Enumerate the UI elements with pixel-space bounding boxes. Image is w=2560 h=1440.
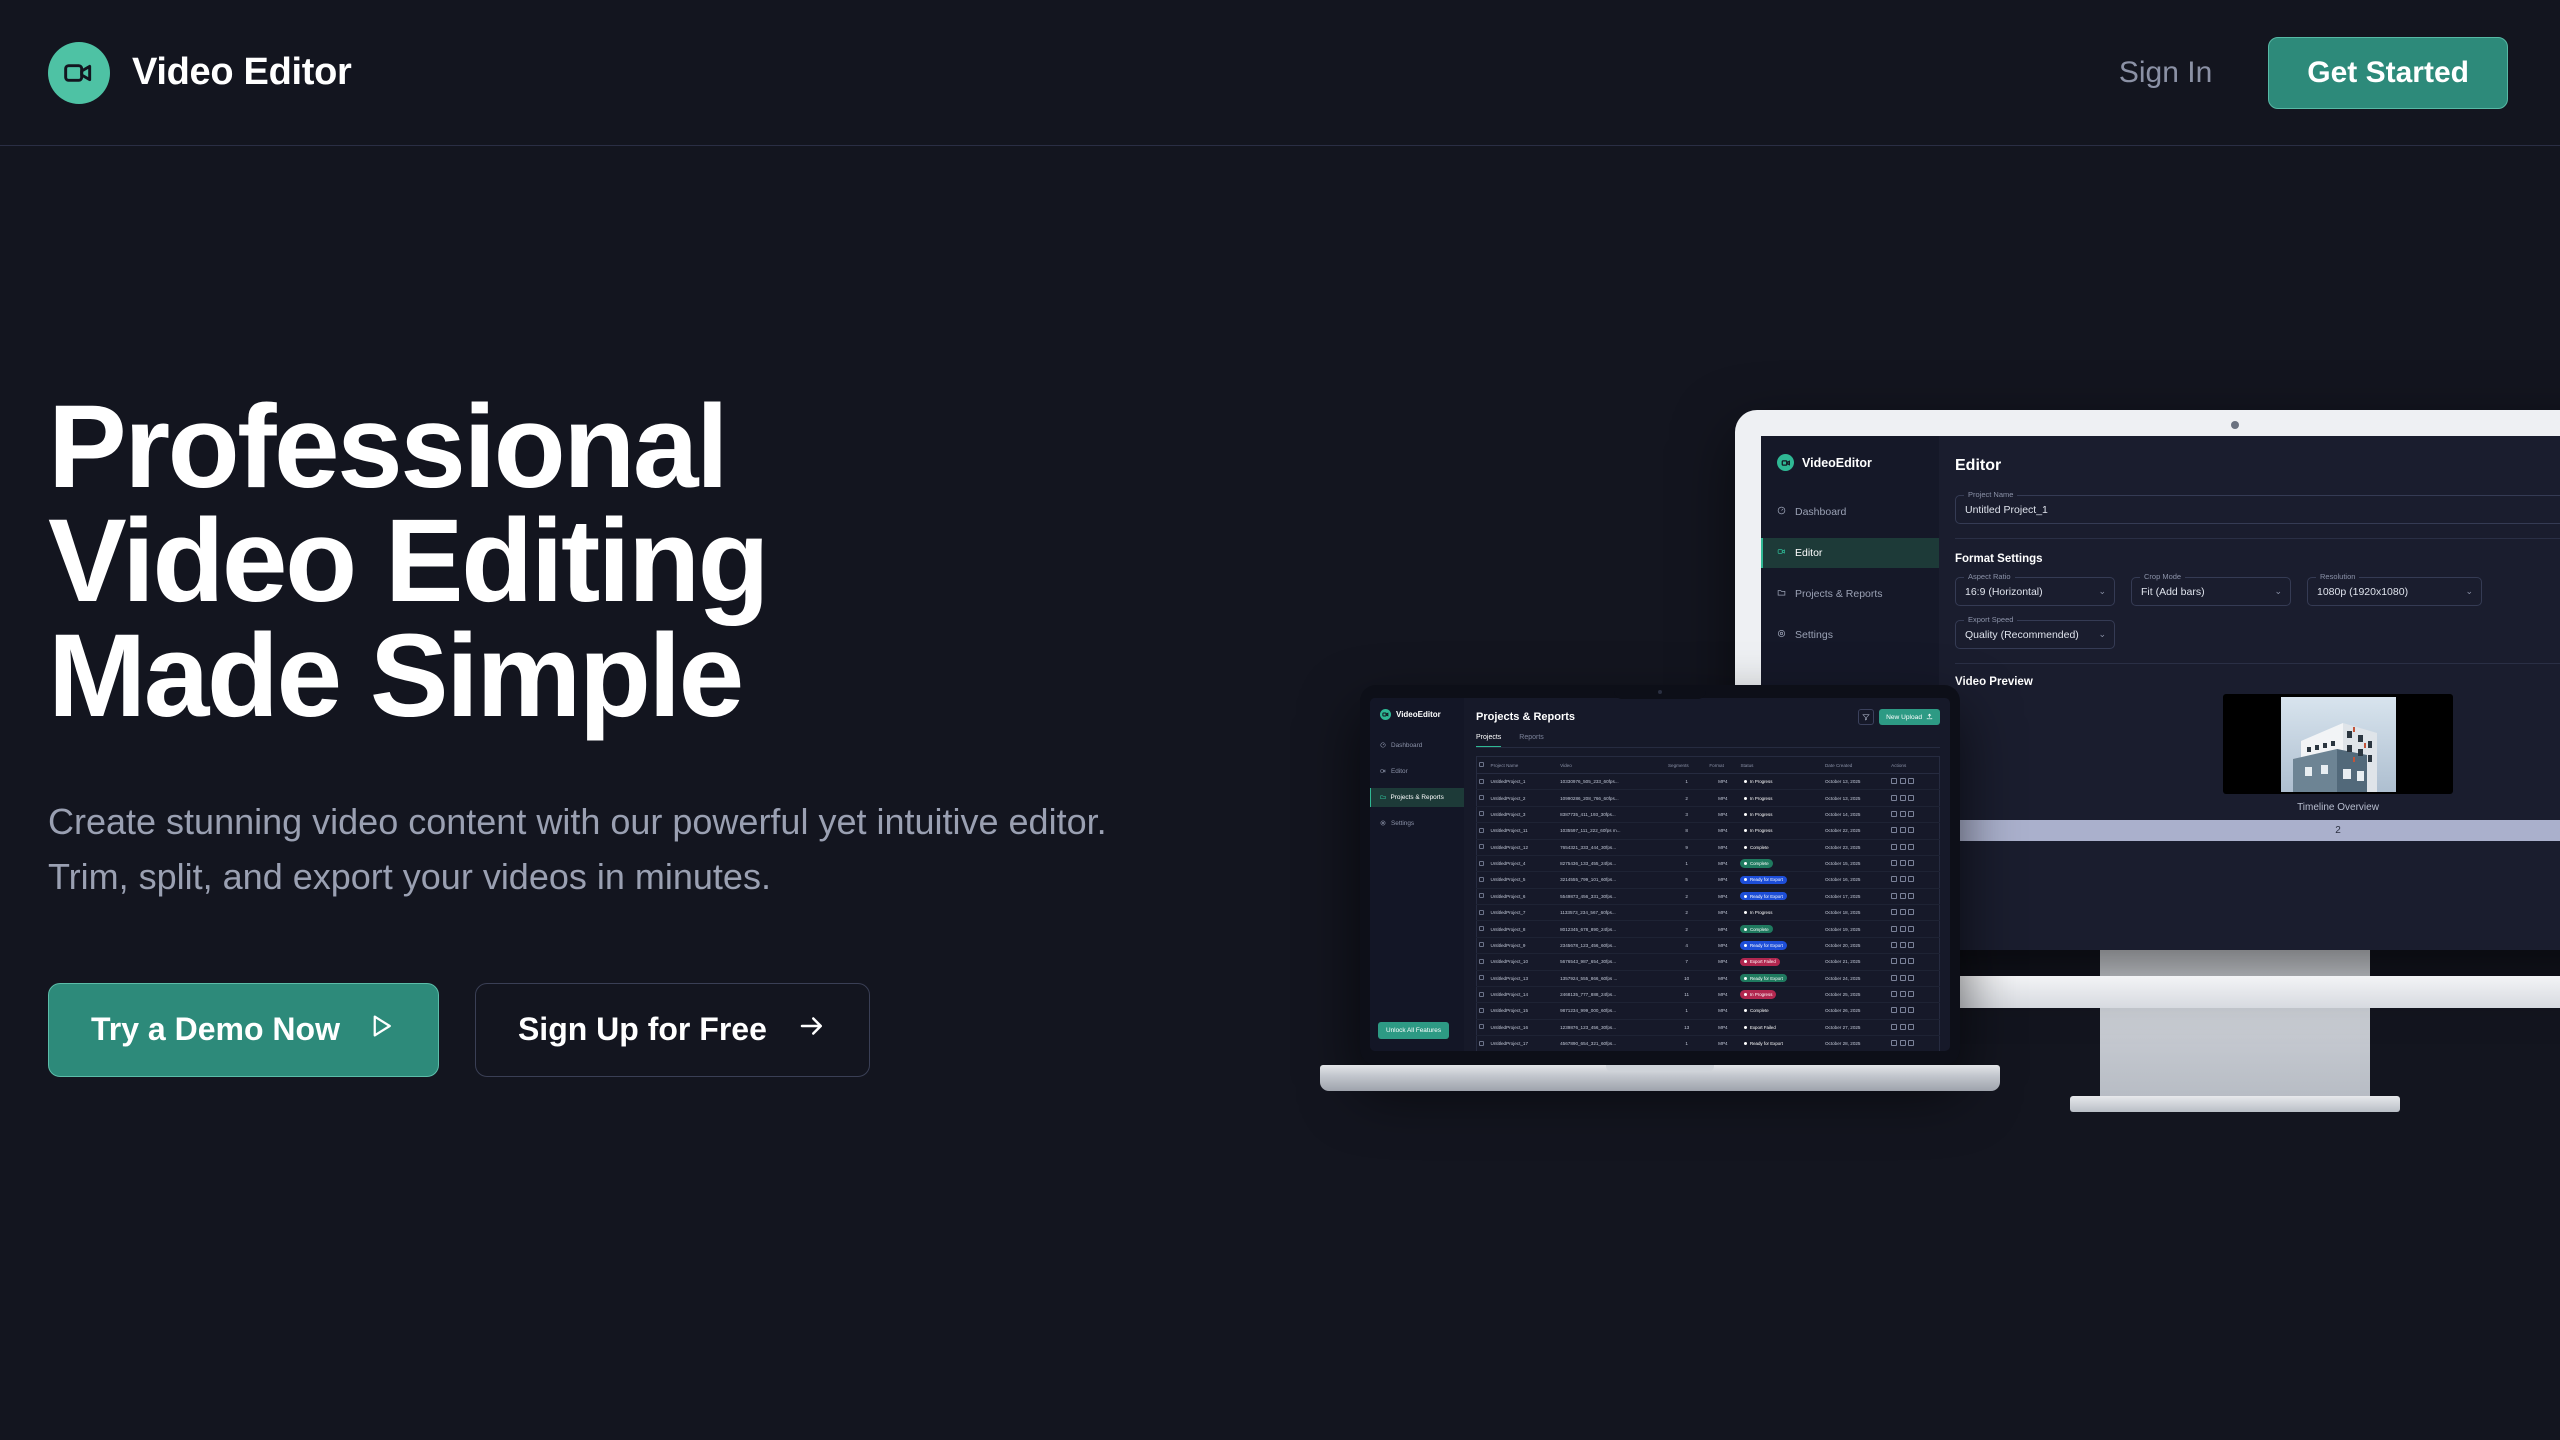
resolution-value: 1080p (1920x1080)	[2317, 586, 2408, 598]
status-dot-icon	[1744, 977, 1747, 980]
trash-icon[interactable]	[1908, 958, 1914, 964]
edit-icon[interactable]	[1891, 958, 1897, 964]
col-select[interactable]	[1477, 757, 1489, 774]
download-icon[interactable]	[1900, 958, 1906, 964]
checkbox-icon[interactable]	[1479, 1041, 1484, 1046]
chevron-down-icon: ⌄	[2098, 629, 2106, 640]
table-row[interactable]: UntitledProject_53214555_799_101_60fps..…	[1477, 872, 1940, 888]
sidebar-item-projects-reports[interactable]: Projects & Reports	[1370, 788, 1464, 807]
download-icon[interactable]	[1900, 876, 1906, 882]
sidebar-label: Settings	[1795, 629, 1833, 641]
table-row[interactable]: UntitledProject_111035597_111_222_60fps …	[1477, 823, 1940, 839]
crop-mode-select[interactable]: Crop Mode Fit (Add bars) ⌄	[2131, 577, 2291, 606]
cell-date-created: October 13, 2025	[1823, 790, 1889, 806]
cell-format: MP4	[1707, 872, 1738, 888]
checkbox-icon[interactable]	[1479, 992, 1484, 997]
folder-icon	[1380, 794, 1386, 802]
cell-actions[interactable]	[1889, 806, 1939, 822]
chevron-down-icon: ⌄	[2465, 586, 2473, 597]
cell-actions[interactable]	[1889, 1019, 1939, 1035]
checkbox-icon[interactable]	[1479, 1008, 1484, 1013]
cell-actions[interactable]	[1889, 839, 1939, 855]
checkbox-icon[interactable]	[1479, 877, 1484, 882]
checkbox-icon[interactable]	[1479, 795, 1484, 800]
row-checkbox[interactable]	[1477, 1036, 1489, 1052]
status-dot-icon	[1744, 878, 1747, 881]
table-row[interactable]: UntitledProject_210990286_208_766_60fps.…	[1477, 790, 1940, 806]
status-badge: In Progress	[1740, 909, 1776, 917]
cell-actions[interactable]	[1889, 855, 1939, 871]
brand[interactable]: Video Editor	[48, 42, 352, 104]
laptop-screen: VideoEditor Dashboard Editor Projects & …	[1370, 698, 1950, 1051]
header-actions: Sign In Get Started	[2119, 37, 2508, 109]
sidebar-item-projects-reports[interactable]: Projects & Reports	[1761, 579, 1939, 609]
edit-icon[interactable]	[1891, 991, 1897, 997]
trash-icon[interactable]	[1908, 975, 1914, 981]
cell-project-name: UntitledProject_5	[1489, 872, 1559, 888]
edit-icon[interactable]	[1891, 778, 1897, 784]
cell-segments: 3	[1666, 806, 1707, 822]
resolution-select[interactable]: Resolution 1080p (1920x1080) ⌄	[2307, 577, 2482, 606]
status-badge: Complete	[1740, 925, 1772, 933]
projects-table: Project Name Video Segments Format Statu…	[1476, 756, 1940, 1051]
device-mockups: VideoEditor Dashboard Edit	[1320, 380, 2560, 1220]
row-checkbox[interactable]	[1477, 1003, 1489, 1019]
cell-format: MP4	[1707, 970, 1738, 986]
format-settings-row-1: Aspect Ratio 16:9 (Horizontal) ⌄ Crop Mo…	[1955, 577, 2560, 606]
unlock-all-features-button[interactable]: Unlock All Features	[1378, 1022, 1449, 1039]
checkbox-icon[interactable]	[1479, 762, 1484, 767]
trash-icon[interactable]	[1908, 1040, 1914, 1046]
cell-format: MP4	[1707, 986, 1738, 1002]
cell-date-created: October 16, 2025	[1823, 872, 1889, 888]
cell-actions[interactable]	[1889, 937, 1939, 953]
cell-segments: 4	[1666, 937, 1707, 953]
cell-video: 7654321_333_444_30fps...	[1558, 839, 1666, 855]
sidebar-label: Settings	[1391, 820, 1414, 827]
cell-status: In Progress	[1738, 806, 1823, 822]
projects-page-title: Projects & Reports	[1476, 711, 1575, 723]
cell-project-name: UntitledProject_3	[1489, 806, 1559, 822]
status-dot-icon	[1744, 813, 1747, 816]
edit-icon[interactable]	[1891, 827, 1897, 833]
cell-segments: 8	[1666, 823, 1707, 839]
aspect-ratio-label: Aspect Ratio	[1964, 572, 2015, 581]
laptop-sidebar: VideoEditor Dashboard Editor Projects & …	[1370, 698, 1464, 1051]
cell-date-created: October 19, 2025	[1823, 921, 1889, 937]
cell-actions[interactable]	[1889, 774, 1939, 790]
status-badge: Complete	[1740, 843, 1772, 851]
cell-segments: 7	[1666, 954, 1707, 970]
cell-format: MP4	[1707, 1003, 1738, 1019]
sidebar-item-dashboard[interactable]: Dashboard	[1370, 736, 1464, 755]
download-icon[interactable]	[1900, 827, 1906, 833]
status-label: In Progress	[1750, 992, 1772, 997]
row-checkbox[interactable]	[1477, 970, 1489, 986]
cell-project-name: UntitledProject_15	[1489, 1003, 1559, 1019]
gauge-icon	[1380, 742, 1386, 750]
play-icon	[366, 1011, 396, 1049]
edit-icon[interactable]	[1891, 893, 1897, 899]
checkbox-icon[interactable]	[1479, 959, 1484, 964]
download-icon[interactable]	[1900, 1024, 1906, 1030]
projects-top-actions: New Upload	[1858, 709, 1940, 725]
download-icon[interactable]	[1900, 795, 1906, 801]
status-label: Complete	[1750, 861, 1769, 866]
row-checkbox[interactable]	[1477, 986, 1489, 1002]
cell-format: MP4	[1707, 888, 1738, 904]
cell-format: MP4	[1707, 855, 1738, 871]
status-label: Complete	[1750, 845, 1769, 850]
row-checkbox[interactable]	[1477, 774, 1489, 790]
hero-title-line-3: Made Simple	[48, 619, 1148, 733]
sign-in-link[interactable]: Sign In	[2119, 56, 2212, 90]
cell-segments: 1	[1666, 774, 1707, 790]
edit-icon[interactable]	[1891, 1007, 1897, 1013]
download-icon[interactable]	[1900, 811, 1906, 817]
download-icon[interactable]	[1900, 926, 1906, 932]
download-icon[interactable]	[1900, 975, 1906, 981]
sidebar-item-editor[interactable]: Editor	[1761, 538, 1939, 568]
cell-actions[interactable]	[1889, 872, 1939, 888]
cell-actions[interactable]	[1889, 905, 1939, 921]
download-icon[interactable]	[1900, 942, 1906, 948]
cell-format: MP4	[1707, 937, 1738, 953]
download-icon[interactable]	[1900, 893, 1906, 899]
hero-subtitle: Create stunning video content with our p…	[48, 795, 1118, 904]
cell-actions[interactable]	[1889, 790, 1939, 806]
cell-video: 8275436_133_455_24fps...	[1558, 855, 1666, 871]
row-checkbox[interactable]	[1477, 921, 1489, 937]
gear-icon	[1777, 629, 1786, 641]
status-label: Ready for Export	[1750, 943, 1783, 948]
col-date-created[interactable]: Date Created	[1823, 757, 1889, 774]
table-row[interactable]: UntitledProject_174567890_654_321_60fps.…	[1477, 1036, 1940, 1052]
col-segments[interactable]: Segments	[1666, 757, 1707, 774]
cell-status: In Progress	[1738, 774, 1823, 790]
download-icon[interactable]	[1900, 909, 1906, 915]
try-demo-button[interactable]: Try a Demo Now	[48, 983, 439, 1077]
sidebar-item-settings[interactable]: Settings	[1761, 620, 1939, 650]
monitor-camera-icon	[2231, 421, 2239, 429]
table-row[interactable]: UntitledProject_65549873_456_331_30fps..…	[1477, 888, 1940, 904]
upload-icon	[1926, 713, 1933, 722]
laptop-brand[interactable]: VideoEditor	[1370, 709, 1464, 720]
cell-date-created: October 21, 2025	[1823, 954, 1889, 970]
trash-icon[interactable]	[1908, 827, 1914, 833]
status-label: Export Failed	[1750, 1025, 1776, 1030]
sign-up-label: Sign Up for Free	[518, 1011, 767, 1048]
status-badge: Ready for Export	[1740, 941, 1786, 949]
status-dot-icon	[1744, 862, 1747, 865]
laptop-topbar: Projects & Reports New Upload	[1476, 709, 1940, 725]
download-icon[interactable]	[1900, 1040, 1906, 1046]
monitor-main-panel: Editor Save Export	[1939, 436, 2560, 950]
divider	[1955, 663, 2560, 664]
cell-status: Complete	[1738, 839, 1823, 855]
table-row[interactable]: UntitledProject_105676543_987_654_30fps.…	[1477, 954, 1940, 970]
trash-icon[interactable]	[1908, 811, 1914, 817]
cell-segments: 10	[1666, 970, 1707, 986]
row-checkbox[interactable]	[1477, 855, 1489, 871]
project-name-field[interactable]: Project Name Untitled Project_1	[1955, 495, 2560, 524]
table-row[interactable]: UntitledProject_110330976_505_233_60fps.…	[1477, 774, 1940, 790]
checkbox-icon[interactable]	[1479, 926, 1484, 931]
row-checkbox[interactable]	[1477, 806, 1489, 822]
col-status[interactable]: Status	[1738, 757, 1823, 774]
row-checkbox[interactable]	[1477, 872, 1489, 888]
sidebar-label: Editor	[1795, 547, 1822, 559]
trash-icon[interactable]	[1908, 991, 1914, 997]
laptop-mockup: VideoEditor Dashboard Editor Projects & …	[1320, 685, 2000, 1115]
status-label: Export Failed	[1750, 959, 1776, 964]
trash-icon[interactable]	[1908, 926, 1914, 932]
table-row[interactable]: UntitledProject_159871234_999_000_60fps.…	[1477, 1003, 1940, 1019]
camera-icon	[1658, 690, 1662, 694]
monitor-brand[interactable]: VideoEditor	[1761, 454, 1939, 471]
arrow-right-icon	[797, 1011, 827, 1049]
trash-icon[interactable]	[1908, 893, 1914, 899]
laptop-lid: VideoEditor Dashboard Editor Projects & …	[1360, 685, 1960, 1065]
trash-icon[interactable]	[1908, 876, 1914, 882]
edit-icon[interactable]	[1891, 844, 1897, 850]
cell-segments: 2	[1666, 888, 1707, 904]
status-badge: In Progress	[1740, 810, 1776, 818]
edit-icon[interactable]	[1891, 876, 1897, 882]
status-dot-icon	[1744, 911, 1747, 914]
cell-video: 3214555_799_101_60fps...	[1558, 872, 1666, 888]
status-badge: Ready for Export	[1740, 892, 1786, 900]
get-started-button[interactable]: Get Started	[2268, 37, 2508, 109]
checkbox-icon[interactable]	[1479, 1024, 1484, 1029]
status-badge: Ready for Export	[1740, 876, 1786, 884]
row-checkbox[interactable]	[1477, 937, 1489, 953]
status-dot-icon	[1744, 846, 1747, 849]
status-badge: Complete	[1740, 1007, 1772, 1015]
cell-status: Ready for Export	[1738, 888, 1823, 904]
table-row[interactable]: UntitledProject_92345678_123_456_60fps..…	[1477, 937, 1940, 953]
cell-segments: 2	[1666, 905, 1707, 921]
cell-date-created: October 26, 2025	[1823, 1003, 1889, 1019]
projects-table-body: UntitledProject_110330976_505_233_60fps.…	[1477, 774, 1940, 1052]
cell-actions[interactable]	[1889, 986, 1939, 1002]
status-badge: Complete	[1740, 859, 1772, 867]
cell-video: 1357924_555_866_60fps ...	[1558, 970, 1666, 986]
cell-date-created: October 22, 2025	[1823, 823, 1889, 839]
status-badge: In Progress	[1740, 827, 1776, 835]
edit-icon[interactable]	[1891, 975, 1897, 981]
hero-title-line-2: Video Editing	[48, 504, 1148, 618]
cell-actions[interactable]	[1889, 823, 1939, 839]
download-icon[interactable]	[1900, 778, 1906, 784]
table-row[interactable]: UntitledProject_88012345_678_890_24fps..…	[1477, 921, 1940, 937]
status-dot-icon	[1744, 960, 1747, 963]
cell-format: MP4	[1707, 823, 1738, 839]
trash-icon[interactable]	[1908, 860, 1914, 866]
edit-icon[interactable]	[1891, 926, 1897, 932]
sign-up-free-button[interactable]: Sign Up for Free	[475, 983, 870, 1077]
row-checkbox[interactable]	[1477, 1019, 1489, 1035]
sidebar-label: Projects & Reports	[1391, 794, 1444, 801]
checkbox-icon[interactable]	[1479, 779, 1484, 784]
aspect-ratio-value: 16:9 (Horizontal)	[1965, 586, 2043, 598]
checkbox-icon[interactable]	[1479, 942, 1484, 947]
cell-status: Ready for Export	[1738, 937, 1823, 953]
edit-icon[interactable]	[1891, 1040, 1897, 1046]
sidebar-item-settings[interactable]: Settings	[1370, 814, 1464, 833]
status-label: In Progress	[1750, 910, 1772, 915]
sidebar-item-editor[interactable]: Editor	[1370, 762, 1464, 781]
row-checkbox[interactable]	[1477, 790, 1489, 806]
edit-icon[interactable]	[1891, 1024, 1897, 1030]
table-row[interactable]: UntitledProject_127654321_333_444_30fps.…	[1477, 839, 1940, 855]
cell-actions[interactable]	[1889, 970, 1939, 986]
status-dot-icon	[1744, 829, 1747, 832]
row-checkbox[interactable]	[1477, 839, 1489, 855]
checkbox-icon[interactable]	[1479, 844, 1484, 849]
download-icon[interactable]	[1900, 860, 1906, 866]
table-row[interactable]: UntitledProject_142468135_777_888_24fps.…	[1477, 986, 1940, 1002]
cell-actions[interactable]	[1889, 921, 1939, 937]
cell-project-name: UntitledProject_1	[1489, 774, 1559, 790]
export-speed-select[interactable]: Export Speed Quality (Recommended) ⌄	[1955, 620, 2115, 649]
new-upload-button[interactable]: New Upload	[1879, 709, 1940, 725]
cell-actions[interactable]	[1889, 954, 1939, 970]
tab-projects[interactable]: Projects	[1476, 734, 1501, 747]
status-label: In Progress	[1750, 779, 1772, 784]
video-thumbnail	[2281, 697, 2396, 792]
page-title: Professional Video Editing Made Simple	[48, 390, 1148, 733]
export-speed-value: Quality (Recommended)	[1965, 629, 2079, 641]
row-checkbox[interactable]	[1477, 888, 1489, 904]
cell-status: Export Failed	[1738, 1019, 1823, 1035]
gear-icon	[1380, 820, 1386, 828]
status-dot-icon	[1744, 944, 1747, 947]
cell-actions[interactable]	[1889, 1036, 1939, 1052]
cell-status: Export Failed	[1738, 954, 1823, 970]
cell-format: MP4	[1707, 1036, 1738, 1052]
trash-icon[interactable]	[1908, 1007, 1914, 1013]
laptop-brand-label: VideoEditor	[1396, 710, 1441, 719]
trash-icon[interactable]	[1908, 795, 1914, 801]
aspect-ratio-select[interactable]: Aspect Ratio 16:9 (Horizontal) ⌄	[1955, 577, 2115, 606]
row-checkbox[interactable]	[1477, 905, 1489, 921]
chevron-down-icon: ⌄	[2098, 586, 2106, 597]
status-dot-icon	[1744, 928, 1747, 931]
status-dot-icon	[1744, 993, 1747, 996]
cell-segments: 1	[1666, 1003, 1707, 1019]
cell-segments: 5	[1666, 872, 1707, 888]
monitor-stand-neck	[2100, 950, 2370, 1098]
gauge-icon	[1777, 506, 1786, 518]
cell-segments: 1	[1666, 855, 1707, 871]
edit-icon[interactable]	[1891, 795, 1897, 801]
cell-video: 5676543_987_654_30fps...	[1558, 954, 1666, 970]
row-checkbox[interactable]	[1477, 954, 1489, 970]
cell-actions[interactable]	[1889, 1003, 1939, 1019]
checkbox-icon[interactable]	[1479, 861, 1484, 866]
table-row[interactable]: UntitledProject_71133573_234_567_60fps..…	[1477, 905, 1940, 921]
edit-icon[interactable]	[1891, 942, 1897, 948]
cell-video: 2468135_777_888_24fps...	[1558, 986, 1666, 1002]
crop-mode-value: Fit (Add bars)	[2141, 586, 2205, 598]
cell-format: MP4	[1707, 921, 1738, 937]
editor-page-title: Editor	[1955, 457, 2001, 475]
trash-icon[interactable]	[1908, 1024, 1914, 1030]
checkbox-icon[interactable]	[1479, 893, 1484, 898]
checkbox-icon[interactable]	[1479, 910, 1484, 915]
status-dot-icon	[1744, 895, 1747, 898]
download-icon[interactable]	[1900, 1007, 1906, 1013]
status-dot-icon	[1744, 797, 1747, 800]
status-dot-icon	[1744, 780, 1747, 783]
sidebar-label: Editor	[1391, 768, 1408, 775]
col-project-name[interactable]: Project Name	[1489, 757, 1559, 774]
col-video[interactable]: Video	[1558, 757, 1666, 774]
sidebar-label: Projects & Reports	[1795, 588, 1883, 600]
edit-icon[interactable]	[1891, 860, 1897, 866]
video-camera-icon	[48, 42, 110, 104]
cell-segments: 13	[1666, 1019, 1707, 1035]
trash-icon[interactable]	[1908, 942, 1914, 948]
sidebar-item-dashboard[interactable]: Dashboard	[1761, 497, 1939, 527]
cell-format: MP4	[1707, 806, 1738, 822]
checkbox-icon[interactable]	[1479, 811, 1484, 816]
status-badge: Export Failed	[1740, 958, 1779, 966]
filter-icon[interactable]	[1858, 709, 1874, 725]
table-row[interactable]: UntitledProject_161239876_123_456_30fps.…	[1477, 1019, 1940, 1035]
cell-status: In Progress	[1738, 790, 1823, 806]
brand-name: Video Editor	[132, 51, 352, 94]
cell-project-name: UntitledProject_16	[1489, 1019, 1559, 1035]
status-badge: In Progress	[1740, 778, 1776, 786]
download-icon[interactable]	[1900, 991, 1906, 997]
cell-status: In Progress	[1738, 823, 1823, 839]
checkbox-icon[interactable]	[1479, 975, 1484, 980]
cell-project-name: UntitledProject_4	[1489, 855, 1559, 871]
download-icon[interactable]	[1900, 844, 1906, 850]
status-label: In Progress	[1750, 812, 1772, 817]
cell-actions[interactable]	[1889, 888, 1939, 904]
col-format[interactable]: Format	[1707, 757, 1738, 774]
edit-icon[interactable]	[1891, 811, 1897, 817]
tab-reports[interactable]: Reports	[1519, 734, 1544, 747]
table-row[interactable]: UntitledProject_48275436_133_455_24fps..…	[1477, 855, 1940, 871]
trash-icon[interactable]	[1908, 778, 1914, 784]
monitor-topbar: Editor Save Export	[1955, 452, 2560, 479]
sidebar-label: Dashboard	[1795, 506, 1846, 518]
cell-project-name: UntitledProject_17	[1489, 1036, 1559, 1052]
cell-date-created: October 25, 2025	[1823, 986, 1889, 1002]
project-name-label: Project Name	[1964, 490, 2017, 499]
cell-status: Complete	[1738, 1003, 1823, 1019]
cell-status: Ready for Export	[1738, 1036, 1823, 1052]
cell-format: MP4	[1707, 790, 1738, 806]
cell-date-created: October 27, 2025	[1823, 1019, 1889, 1035]
video-player[interactable]	[2223, 694, 2453, 794]
cell-segments: 11	[1666, 986, 1707, 1002]
row-checkbox[interactable]	[1477, 823, 1489, 839]
cell-video: 8387735_411_193_30fps...	[1558, 806, 1666, 822]
table-row[interactable]: UntitledProject_131357924_555_866_60fps …	[1477, 970, 1940, 986]
cell-status: In Progress	[1738, 905, 1823, 921]
table-row[interactable]: UntitledProject_38387735_411_193_30fps..…	[1477, 806, 1940, 822]
checkbox-icon[interactable]	[1479, 828, 1484, 833]
cell-status: In Progress	[1738, 986, 1823, 1002]
trash-icon[interactable]	[1908, 844, 1914, 850]
edit-icon[interactable]	[1891, 909, 1897, 915]
trash-icon[interactable]	[1908, 909, 1914, 915]
